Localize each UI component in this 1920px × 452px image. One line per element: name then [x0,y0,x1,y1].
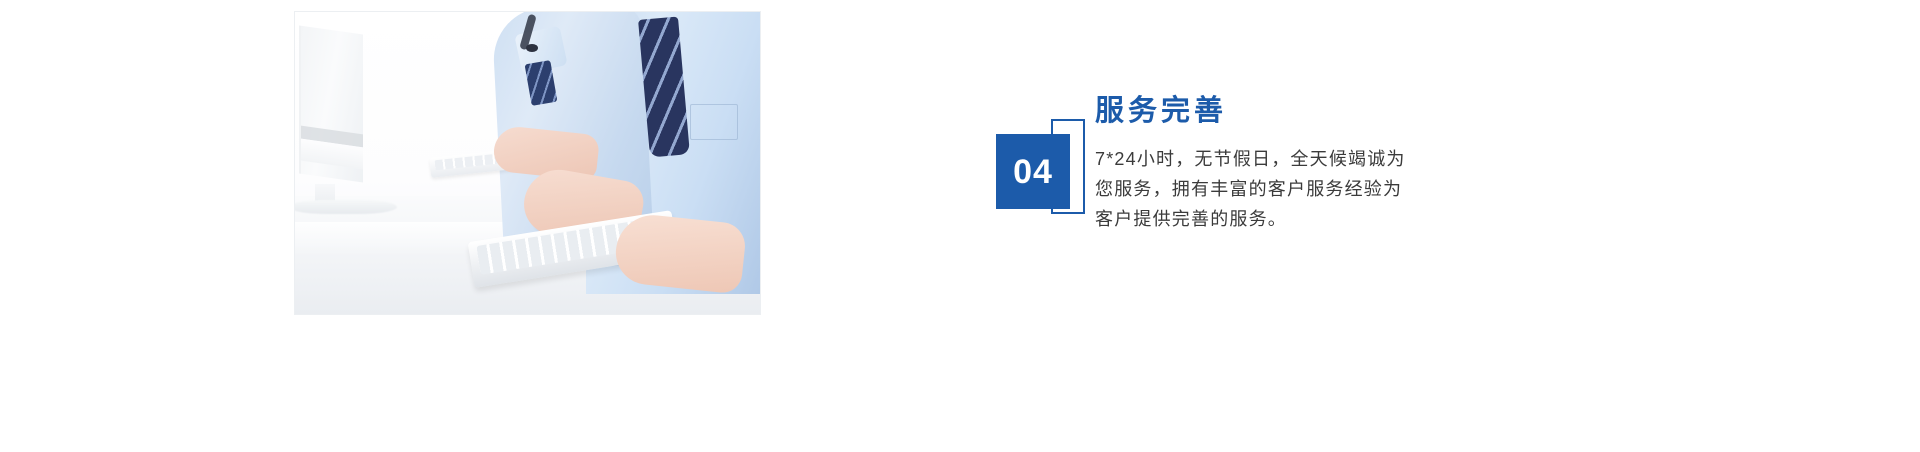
description-line: 您服务，拥有丰富的客户服务经验为 [1095,174,1515,204]
step-number-badge: 04 [996,96,1088,221]
feature-description: 7*24小时，无节假日，全天候竭诚为 您服务，拥有丰富的客户服务经验为 客户提供… [1095,144,1515,234]
description-line: 7*24小时，无节假日，全天候竭诚为 [1095,144,1515,174]
monitor-stand-base [295,200,397,214]
feature-copy: 服务完善 7*24小时，无节假日，全天候竭诚为 您服务，拥有丰富的客户服务经验为… [1095,96,1515,234]
feature-section-service: 04 服务完善 7*24小时，无节假日，全天候竭诚为 您服务，拥有丰富的客户服务… [0,0,1920,452]
shirt-pocket [690,104,738,140]
badge-number-label: 04 [996,134,1070,209]
service-photo [295,12,760,314]
feature-title: 服务完善 [1095,96,1515,128]
photo-canvas [295,12,760,314]
headset-earpad-icon [526,44,538,52]
description-line: 客户提供完善的服务。 [1095,204,1515,234]
